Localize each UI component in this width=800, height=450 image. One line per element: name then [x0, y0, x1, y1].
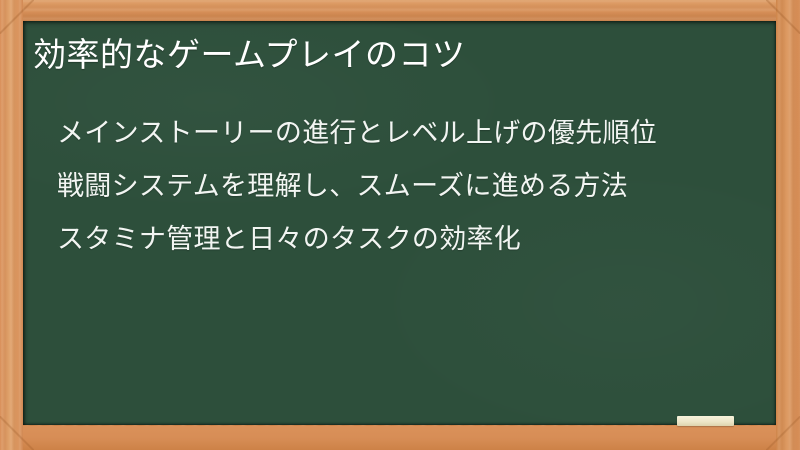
chalkboard-surface: 効率的なゲームプレイのコツ メインストーリーの進行とレベル上げの優先順位 戦闘シ…	[23, 21, 776, 425]
slide-title: 効率的なゲームプレイのコツ	[33, 32, 466, 78]
chalk-stick-icon	[677, 416, 734, 426]
bullet-item-2: 戦闘システムを理解し、スムーズに進める方法	[57, 160, 766, 213]
frame-top-rail	[0, 0, 800, 21]
bullet-item-3: スタミナ管理と日々のタスクの効率化	[57, 213, 766, 266]
bullet-list: メインストーリーの進行とレベル上げの優先順位 戦闘システムを理解し、スムーズに進…	[57, 107, 766, 266]
frame-left-rail	[0, 0, 23, 450]
frame-right-rail	[776, 0, 800, 450]
frame-bottom-ledge	[0, 426, 800, 450]
bullet-item-1: メインストーリーの進行とレベル上げの優先順位	[57, 107, 766, 160]
blackboard-slide: 効率的なゲームプレイのコツ メインストーリーの進行とレベル上げの優先順位 戦闘シ…	[0, 0, 800, 450]
